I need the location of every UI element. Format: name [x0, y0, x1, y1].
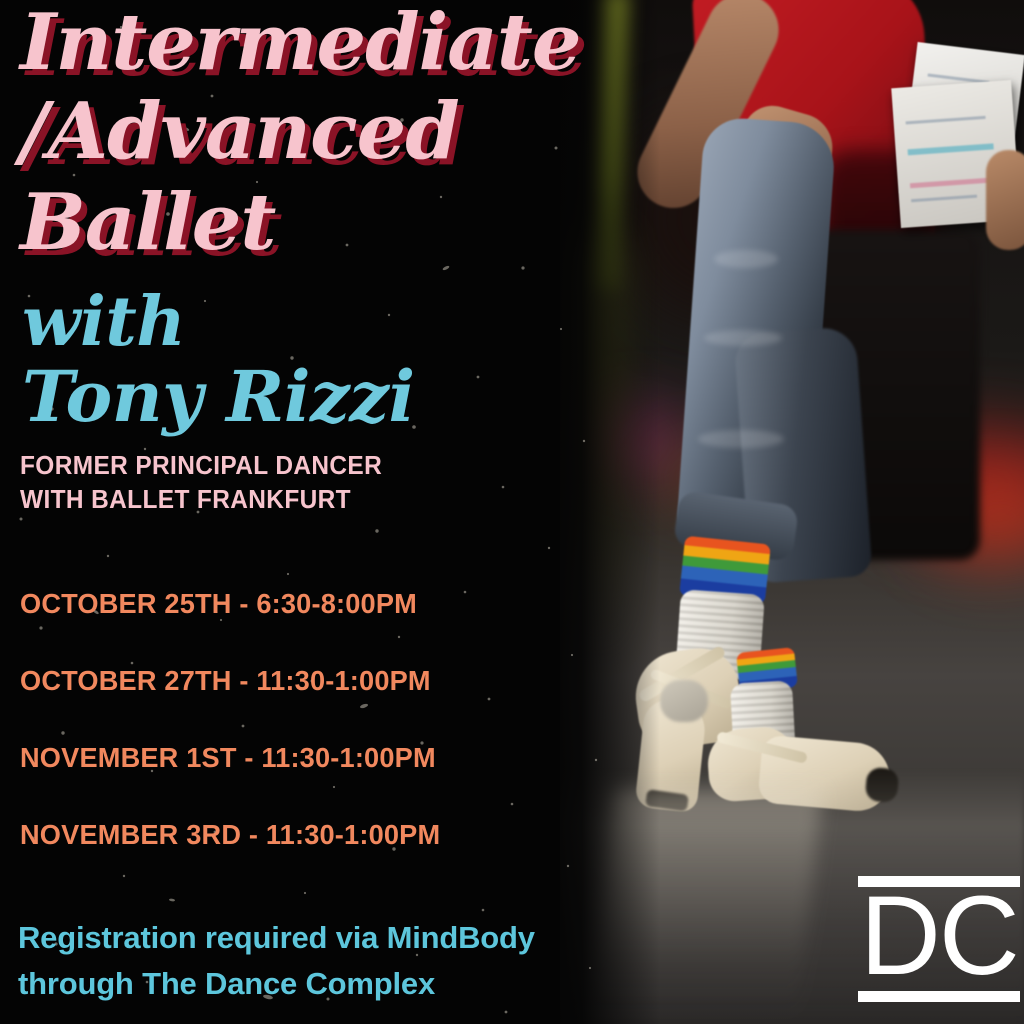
- logo-bottom-bar: [858, 991, 1020, 1002]
- title-line-2: /Advanced: [20, 95, 459, 170]
- dark-overlay-fade: [540, 0, 660, 1024]
- paper-text-line: [906, 116, 986, 125]
- logo-letters: DC: [860, 884, 1018, 988]
- poster-canvas: Intermediate /Advanced Ballet with Tony …: [0, 0, 1024, 1024]
- jeans-crease: [698, 430, 784, 448]
- title-line-1: Intermediate: [20, 6, 580, 81]
- subtitle-line-with: with: [22, 288, 185, 356]
- pointe-shoe-vamp-shadow: [660, 680, 708, 722]
- jeans-crease: [714, 250, 778, 268]
- dance-complex-logo: DC: [858, 876, 1024, 1002]
- title-line-3: Ballet: [20, 186, 275, 261]
- registration-note-line-2: through The Dance Complex: [18, 966, 435, 1002]
- registration-note-line-1: Registration required via MindBody: [18, 920, 535, 956]
- session-date-4: NOVEMBER 3RD - 11:30-1:00PM: [20, 819, 440, 851]
- paper-text-line: [911, 195, 977, 203]
- second-hand: [986, 150, 1024, 250]
- jeans-crease: [704, 330, 782, 346]
- subtitle-line-instructor-name: Tony Rizzi: [22, 362, 415, 432]
- session-date-2: OCTOBER 27TH - 11:30-1:00PM: [20, 665, 431, 697]
- paper-highlight-line: [908, 143, 994, 155]
- credit-line-2: WITH BALLET FRANKFURT: [20, 484, 351, 515]
- credit-line-1: FORMER PRINCIPAL DANCER: [20, 450, 382, 481]
- session-date-1: OCTOBER 25TH - 6:30-8:00PM: [20, 588, 417, 620]
- session-date-3: NOVEMBER 1ST - 11:30-1:00PM: [20, 742, 436, 774]
